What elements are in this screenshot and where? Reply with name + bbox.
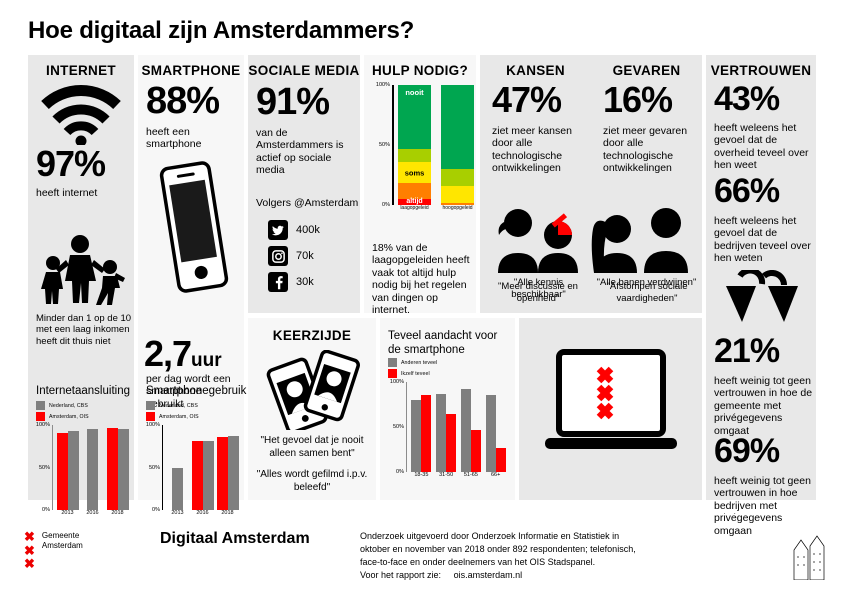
panel-keerzijde-heading: KEERZIJDE — [248, 318, 376, 343]
smartphone-stat: 88% — [146, 83, 219, 119]
y-tick-50: 50% — [39, 465, 50, 471]
kansen-stat-caption: ziet meer kansen door alle technologisch… — [492, 125, 590, 175]
y-tick-0: 0% — [396, 469, 404, 475]
chart-internetaansluiting: Internetaansluiting Nederland, CBS Amste… — [36, 385, 130, 516]
follower-row: 400k — [268, 220, 320, 240]
internet-note: Minder dan 1 op de 10 met een laag inkom… — [36, 313, 132, 347]
follower-row: 30k — [268, 272, 320, 292]
vertrouwen-caption-3: heeft weinig tot geen vertrouwen in hoe … — [714, 375, 814, 437]
legend-swatch-grey — [36, 401, 45, 410]
y-axis — [162, 425, 163, 510]
hours-value: 2,7 — [144, 333, 191, 374]
x-label: 2013 — [165, 510, 190, 516]
footer-credits: Onderzoek uitgevoerd door Onderzoek Info… — [360, 530, 780, 582]
hulp-nodig-note: 18% van de laagopgeleiden heeft vaak tot… — [372, 242, 472, 316]
panel-smartphone-heading: SMARTPHONE — [138, 55, 244, 78]
follower-row: 70k — [268, 246, 320, 266]
locks-icon — [720, 270, 804, 325]
chart-title: Internetaansluiting — [36, 385, 130, 397]
footer-brand: Digitaal Amsterdam — [160, 530, 310, 548]
y-tick-0: 0% — [382, 202, 390, 208]
vertrouwen-stat-4: 69% — [714, 435, 779, 467]
bar-group — [409, 382, 434, 472]
laptop-icon — [545, 346, 677, 471]
chart-plot: 100% 50% 0% — [406, 382, 508, 472]
vertrouwen-caption-1: heeft weleens het gevoel dat de overheid… — [714, 122, 814, 172]
gevaren-stat-caption: ziet meer gevaren door alle technologisc… — [603, 125, 701, 175]
panel-kansen-gevaren: KANSEN GEVAREN 47% ziet meer kansen door… — [480, 55, 702, 313]
sociale-media-stat: 91% — [256, 84, 329, 120]
x-label: laagopgeleid — [398, 205, 431, 211]
panel-gevaren-heading: GEVAREN — [591, 55, 702, 78]
y-tick-100: 100% — [390, 379, 404, 385]
x-glyph: ✖ — [24, 530, 35, 544]
instagram-icon — [268, 246, 288, 266]
chart-plot: 100% 50% 0% — [162, 425, 240, 510]
legend-item: Anderen teveel — [388, 358, 508, 367]
y-tick-100: 100% — [36, 422, 50, 428]
x-label: 2013 — [55, 510, 80, 516]
family-icon — [38, 233, 126, 305]
legend-swatch-red — [36, 412, 45, 421]
chart-x-labels: laagopgeleid hoogopgeleid — [398, 205, 474, 211]
bar-group — [105, 425, 130, 510]
follower-count: 30k — [296, 276, 314, 288]
x-label: 18-35 — [409, 472, 434, 478]
chart-smartphonegebruik: Smartphonegebruik Nederland, CBS Amsterd… — [146, 385, 240, 516]
panel-hulp-nodig: HULP NODIG? 100% 50% 0% nooit soms — [364, 55, 476, 313]
vertrouwen-caption-2: heeft weleens het gevoel dat de bedrijve… — [714, 215, 814, 265]
chart-plot: 100% 50% 0% nooit soms altijd — [392, 85, 474, 205]
x-label: 31-50 — [434, 472, 459, 478]
credits-line-2: oktober en november van 2018 onder 892 r… — [360, 543, 780, 556]
x-label: 2018 — [215, 510, 240, 516]
smartphone-icon — [158, 160, 230, 295]
legend-swatch-red — [388, 369, 397, 378]
vertrouwen-stat-1: 43% — [714, 83, 779, 115]
legend-item: Amsterdam, OIS — [146, 412, 240, 421]
x-label: 2016 — [80, 510, 105, 516]
chart-x-labels: 18-35 31-50 51-65 66+ — [409, 472, 508, 478]
chart-bars — [409, 382, 508, 472]
y-axis — [406, 382, 407, 472]
followers-list: 400k 70k 30k — [268, 220, 320, 298]
x-label: hoogopgeleid — [441, 205, 474, 211]
y-tick-100: 100% — [146, 422, 160, 428]
x-glyph: ✖ — [24, 557, 35, 571]
x-label: 2016 — [190, 510, 215, 516]
panel-vertrouwen-heading: VERTROUWEN — [706, 55, 816, 78]
x-label: 66+ — [483, 472, 508, 478]
chart-bars — [55, 425, 130, 510]
credits-line-3: face-to-face en onder deelnemers van het… — [360, 556, 780, 569]
y-tick-0: 0% — [42, 507, 50, 513]
chart-x-labels: 2013 2016 2018 — [165, 510, 240, 516]
bar-group — [483, 382, 508, 472]
chart-bars — [165, 425, 240, 510]
legend-label: Amsterdam, OIS — [159, 414, 199, 420]
bar-group — [190, 425, 215, 510]
x-glyph: ✖ — [24, 544, 35, 558]
bar-group — [459, 382, 484, 472]
chart-legend: Nederland, CBS Amsterdam, OIS — [146, 401, 240, 421]
panel-laptop — [519, 318, 702, 500]
stacked-bar-laagopgeleid: nooit soms altijd — [398, 85, 431, 205]
smartphone-stat-caption: heeft een smartphone — [146, 126, 241, 151]
panel-sociale-media-heading: SOCIALE MEDIA — [248, 55, 360, 78]
legend-item: Nederland, CBS — [146, 401, 240, 410]
gevaren-stat: 16% — [603, 83, 672, 117]
legend-label: Amsterdam, OIS — [49, 414, 89, 420]
smartphone-hours: 2,7uur — [144, 337, 222, 372]
panel-internet: INTERNET 97% heeft internet — [28, 55, 134, 500]
stacked-bars: nooit soms altijd — [398, 85, 474, 205]
vertrouwen-stat-2: 66% — [714, 175, 779, 207]
audience-icon — [490, 203, 695, 273]
chart-legend: Nederland, CBS Amsterdam, OIS — [36, 401, 130, 421]
vertrouwen-stat-3: 21% — [714, 335, 779, 367]
chart-legend: Anderen teveel Ikzelf teveel — [388, 358, 508, 378]
chart-title: Smartphonegebruik — [146, 385, 240, 397]
panel-hulp-nodig-heading: HULP NODIG? — [364, 55, 476, 78]
follower-count: 400k — [296, 224, 320, 236]
keerzijde-quote-1: "Het gevoel dat je nooit alleen samen be… — [254, 435, 370, 460]
kansen-stat: 47% — [492, 83, 561, 117]
legend-item: Nederland, CBS — [36, 401, 130, 410]
segment-label-altijd: altijd — [398, 198, 431, 205]
footer-divider — [0, 514, 842, 515]
legend-label: Anderen teveel — [401, 360, 437, 366]
panel-teveel-aandacht: Teveel aandacht voor de smartphone Ander… — [380, 318, 515, 500]
sociale-media-stat-caption: van de Amsterdammers is actief op social… — [256, 127, 356, 177]
facebook-icon — [268, 272, 288, 292]
follower-count: 70k — [296, 250, 314, 262]
stacked-bar-hoogopgeleid — [441, 85, 474, 205]
internet-stat: 97% — [36, 147, 105, 181]
legend-item: Ikzelf teveel — [388, 369, 508, 378]
logo-xxx-icon: ✖ ✖ ✖ — [24, 530, 35, 571]
bar-group — [55, 425, 80, 510]
segment-label-nooit: nooit — [398, 88, 431, 97]
chart-title: Teveel aandacht voor de smartphone — [388, 330, 508, 358]
x-label: 51-65 — [459, 472, 484, 478]
y-axis — [52, 425, 53, 510]
bar-group — [215, 425, 240, 510]
two-phones-icon — [266, 350, 362, 430]
hours-unit: uur — [191, 350, 222, 371]
credits-link[interactable]: ois.amsterdam.nl — [454, 570, 523, 580]
chart-teveel-aandacht: Teveel aandacht voor de smartphone Ander… — [388, 358, 508, 478]
legend-swatch-grey — [388, 358, 397, 367]
kansen-quote-2: "Meer discussie en openheid" — [484, 281, 592, 305]
panel-sociale-media: SOCIALE MEDIA 91% van de Amsterdammers i… — [248, 55, 360, 313]
infographic-page: Hoe digitaal zijn Amsterdammers? INTERNE… — [0, 0, 842, 595]
chart-plot: 100% 50% 0% — [52, 425, 130, 510]
legend-label: Nederland, CBS — [159, 403, 198, 409]
credits-link-label: Voor het rapport zie: — [360, 570, 441, 580]
legend-label: Nederland, CBS — [49, 403, 88, 409]
logo-label-line1: Gemeente — [42, 531, 83, 541]
internet-stat-caption: heeft internet — [36, 187, 132, 199]
wifi-icon — [39, 83, 123, 145]
chart-hulp-nodig: 100% 50% 0% nooit soms altijd — [370, 85, 474, 211]
logo-label-line2: Amsterdam — [42, 541, 83, 551]
panel-smartphone: SMARTPHONE 88% heeft een smartphone 2,7u… — [138, 55, 244, 500]
y-axis — [392, 85, 394, 205]
panel-vertrouwen: VERTROUWEN 43% heeft weleens het gevoel … — [706, 55, 816, 500]
segment-label-soms: soms — [398, 168, 431, 177]
amsterdam-buildings-icon — [790, 524, 830, 580]
y-tick-0: 0% — [152, 507, 160, 513]
y-tick-100: 100% — [376, 82, 390, 88]
keerzijde-quote-2: "Alles wordt gefilmd i.p.v. beleefd" — [254, 469, 370, 494]
legend-item: Amsterdam, OIS — [36, 412, 130, 421]
bar-group — [434, 382, 459, 472]
twitter-icon — [268, 220, 288, 240]
y-tick-50: 50% — [393, 424, 404, 430]
bar-group — [80, 425, 105, 510]
legend-swatch-grey — [146, 401, 155, 410]
panel-internet-heading: INTERNET — [28, 55, 134, 78]
legend-swatch-red — [146, 412, 155, 421]
x-label: 2018 — [105, 510, 130, 516]
y-tick-50: 50% — [149, 465, 160, 471]
bar-group — [165, 425, 190, 510]
y-tick-50: 50% — [379, 142, 390, 148]
panel-keerzijde: KEERZIJDE "Het gevoel da — [248, 318, 376, 500]
page-title: Hoe digitaal zijn Amsterdammers? — [28, 17, 414, 45]
credits-line-4: Voor het rapport zie: ois.amsterdam.nl — [360, 569, 780, 582]
legend-label: Ikzelf teveel — [401, 371, 430, 377]
gemeente-logo: ✖ ✖ ✖ Gemeente Amsterdam — [24, 530, 134, 571]
panel-kansen-heading: KANSEN — [480, 55, 591, 78]
credits-line-1: Onderzoek uitgevoerd door Onderzoek Info… — [360, 530, 780, 543]
followers-label: Volgers @Amsterdam — [256, 197, 360, 209]
chart-x-labels: 2013 2016 2018 — [55, 510, 130, 516]
gevaren-quote-2: "Afstompen sociale vaardigheden" — [593, 281, 701, 305]
